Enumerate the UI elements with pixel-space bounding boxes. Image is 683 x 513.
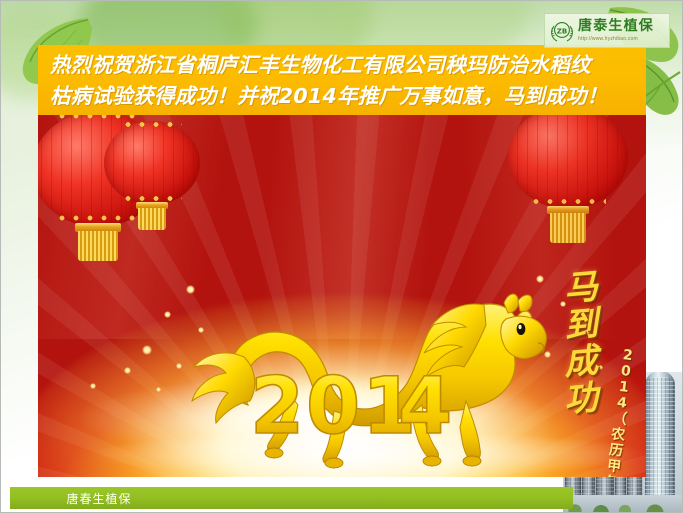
- year-numerals: 2 0 1 4: [250, 362, 452, 452]
- sparkle: [124, 367, 131, 374]
- lantern-tassel: [550, 213, 586, 243]
- svg-text:2: 2: [250, 362, 304, 452]
- lantern-tassel: [78, 231, 118, 261]
- sparkle: [142, 345, 152, 355]
- footer-bar: 唐春生植保: [10, 487, 573, 509]
- lantern-tassel: [138, 208, 166, 230]
- calligraphy-char: 成: [556, 342, 605, 383]
- sparkle: [156, 387, 161, 392]
- calligraphy-char: 马: [556, 268, 605, 309]
- new-year-poster-image: 2 0 1 4 马 到 成 功 2 0 1 4 （ 农 历 甲 午 年: [38, 115, 646, 477]
- headline-line-1: 热烈祝贺浙江省桐庐汇丰生物化工有限公司秧玛防治水稻纹: [50, 50, 636, 81]
- tree-line: [563, 495, 683, 513]
- logo-company-name: 唐泰生植保: [578, 18, 654, 34]
- company-logo[interactable]: ZB 唐泰生植保 http://www.hyzhibao.com: [544, 13, 670, 48]
- calligraphy-char: 功: [556, 379, 605, 420]
- logo-text-group: 唐泰生植保 http://www.hyzhibao.com: [578, 18, 654, 43]
- golden-horse-illustration: 2 0 1 4: [166, 283, 566, 473]
- lantern-top-ornament: [530, 115, 606, 116]
- sparkle: [90, 383, 96, 389]
- sparkle: [536, 275, 544, 283]
- footer-label: 唐春生植保: [66, 490, 131, 507]
- calligraphy-ma-dao-cheng-gong: 马 到 成 功: [558, 270, 604, 418]
- svg-text:0: 0: [306, 362, 360, 452]
- headline-banner: 热烈祝贺浙江省桐庐汇丰生物化工有限公司秧玛防治水稻纹 枯病试验获得成功！并祝20…: [38, 45, 646, 115]
- svg-text:4: 4: [398, 362, 452, 452]
- zb-wreath-icon: ZB: [549, 18, 575, 44]
- headline-line-2: 枯病试验获得成功！并祝2014年推广万事如意，马到成功！: [50, 81, 636, 112]
- slide-page: ZB 唐泰生植保 http://www.hyzhibao.com 热烈祝贺浙江省…: [0, 0, 683, 513]
- red-lantern: [508, 115, 628, 245]
- svg-text:ZB: ZB: [557, 27, 567, 35]
- calligraphy-char: 到: [556, 305, 605, 346]
- skyscraper-tower: [645, 372, 675, 499]
- red-lantern: [104, 121, 200, 233]
- logo-website-url: http://www.hyzhibao.com: [578, 35, 654, 43]
- lantern-top-ornament: [122, 119, 182, 130]
